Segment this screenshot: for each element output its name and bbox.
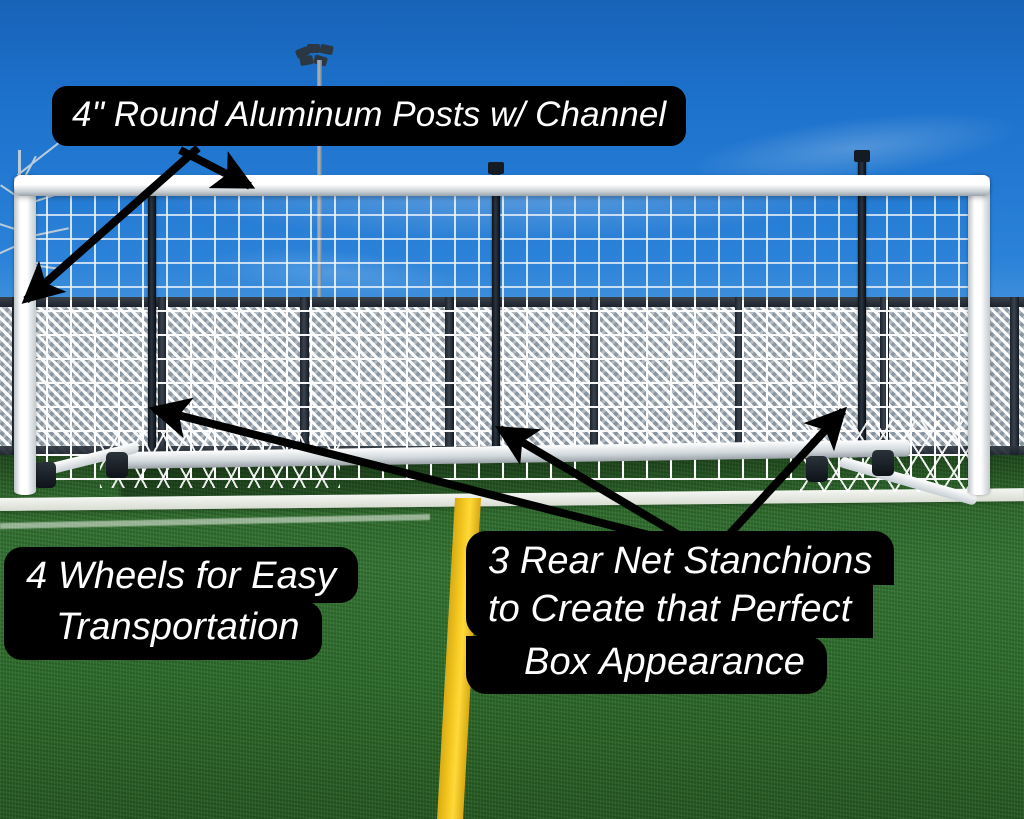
fence-post <box>1010 297 1019 457</box>
posts-callout-line-1: 4" Round Aluminum Posts w/ Channel <box>52 86 686 146</box>
goal-post-left <box>14 175 36 495</box>
rear-net-stanchion <box>858 158 866 458</box>
posts-callout: 4" Round Aluminum Posts w/ Channel <box>52 86 686 146</box>
photo-canvas: 4" Round Aluminum Posts w/ Channel 4 Whe… <box>0 0 1024 819</box>
wheels-callout: 4 Wheels for Easy Transportation <box>4 547 358 660</box>
rear-net-stanchion <box>492 170 500 462</box>
stanchions-callout-line-2: to Create that Perfect <box>466 585 873 637</box>
stanchion-cap <box>854 150 870 162</box>
stanchions-callout-line-1: 3 Rear Net Stanchions <box>466 531 894 585</box>
rear-net-stanchion <box>148 186 156 462</box>
goal-wheel <box>806 456 828 482</box>
wheels-callout-line-1: 4 Wheels for Easy <box>4 547 358 603</box>
wheels-callout-line-2: Transportation <box>4 601 322 659</box>
goal-crossbar <box>14 175 990 196</box>
stanchions-callout-line-3: Box Appearance <box>466 636 827 694</box>
goal-wheel <box>34 462 56 488</box>
goal-wheel <box>872 450 894 476</box>
stanchions-callout: 3 Rear Net Stanchions to Create that Per… <box>466 531 894 694</box>
stanchion-cap <box>488 162 504 174</box>
goal-post-right <box>968 175 990 495</box>
goal-wheel <box>106 452 128 478</box>
